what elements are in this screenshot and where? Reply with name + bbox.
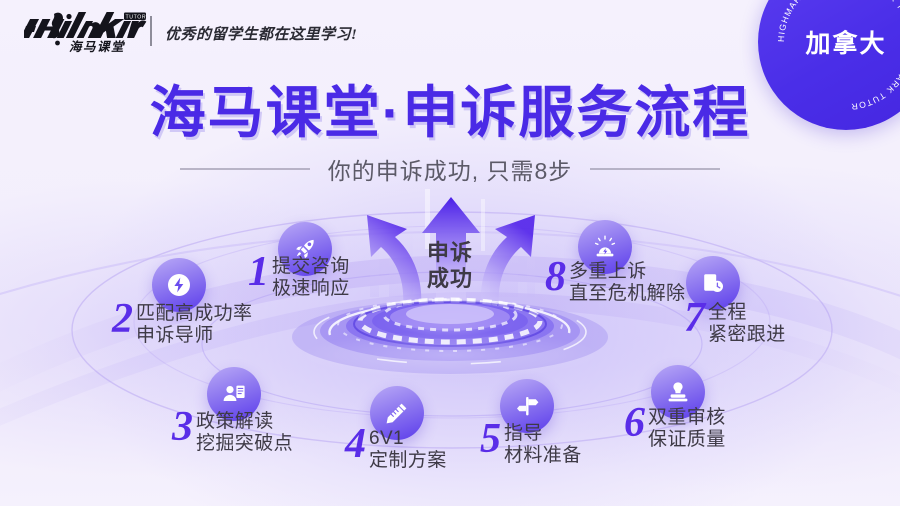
step-6-line1: 双重审核 (648, 407, 726, 429)
poster-canvas: TUTOR 海马课堂 优秀的留学生都在这里学习! HIGHMARK TUTOR … (0, 0, 900, 506)
page-title: 海马课堂·申诉服务流程 (0, 68, 900, 149)
center-label-line1: 申诉 (285, 240, 615, 266)
step-3-line1: 政策解读 (196, 411, 293, 433)
step-7-line2: 紧密跟进 (708, 324, 786, 346)
step-6-line2: 保证质量 (648, 429, 726, 451)
step-2-line1: 匹配高成功率 (136, 303, 252, 325)
step-3-line2: 挖掘突破点 (196, 433, 293, 455)
step-5-text: 5 指导 材料准备 (480, 420, 582, 468)
step-3-number: 3 (172, 408, 193, 447)
step-4-number: 4 (345, 425, 366, 464)
step-7-number: 7 (684, 299, 705, 338)
badge-country-label: 加拿大 (758, 24, 900, 60)
center-graphic: 申诉 成功 (285, 185, 615, 375)
step-2-line2: 申诉导师 (136, 325, 252, 347)
step-4-text: 4 6V1 定制方案 (345, 425, 447, 473)
subtitle-rule-left (180, 168, 310, 170)
center-label-line2: 成功 (285, 266, 615, 292)
step-4-line2: 定制方案 (369, 450, 447, 472)
step-1-number: 1 (248, 253, 269, 292)
step-2-text: 2 匹配高成功率 申诉导师 (112, 300, 252, 348)
step-6-text: 6 双重审核 保证质量 (624, 404, 726, 452)
step-2-number: 2 (112, 300, 133, 339)
step-3-text: 3 政策解读 挖掘突破点 (172, 408, 293, 456)
subtitle-rule-right (590, 168, 720, 170)
step-5-number: 5 (480, 420, 501, 459)
logo-chinese-text: 海马课堂 (69, 40, 126, 54)
step-6-number: 6 (624, 404, 645, 443)
step-7-text: 7 全程 紧密跟进 (684, 299, 786, 347)
header-tagline: 优秀的留学生都在这里学习! (165, 23, 357, 44)
center-success-label: 申诉 成功 (285, 240, 615, 291)
page-subtitle: 你的申诉成功, 只需8步 (328, 152, 573, 186)
step-5-line2: 材料准备 (504, 445, 582, 467)
header-divider (150, 16, 152, 46)
step-7-line1: 全程 (708, 302, 786, 324)
step-4-line1: 6V1 (369, 428, 447, 450)
step-5-line1: 指导 (504, 423, 582, 445)
brand-logo[interactable]: TUTOR 海马课堂 (24, 10, 152, 54)
svg-text:TUTOR: TUTOR (126, 14, 147, 20)
highmark-logo-icon: TUTOR 海马课堂 (24, 10, 152, 54)
subtitle-row: 你的申诉成功, 只需8步 (0, 152, 900, 186)
